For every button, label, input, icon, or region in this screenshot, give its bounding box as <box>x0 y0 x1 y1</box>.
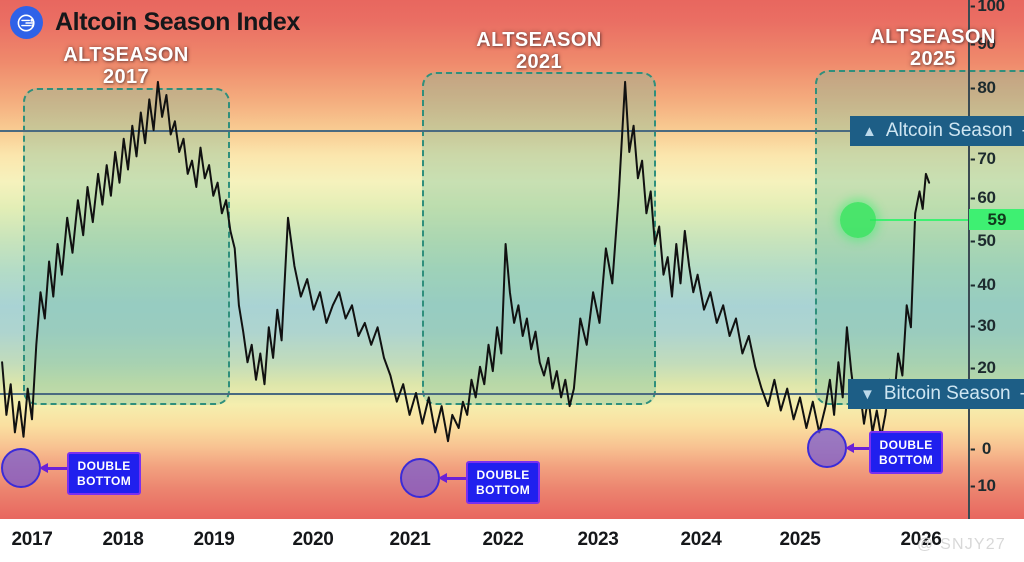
altseason-label-text: ALTSEASON <box>456 29 622 51</box>
double-bottom-callout-2[interactable]: DOUBLE BOTTOM <box>466 461 540 504</box>
callout-line-2: BOTTOM <box>77 474 131 489</box>
altseason-label-2025: ALTSEASON 2025 <box>850 26 1016 71</box>
page-title: Altcoin Season Index <box>55 8 300 37</box>
badge-trailing-dash: - <box>1020 383 1024 405</box>
y-tick-50: -50 <box>970 231 996 251</box>
x-tick-2022: 2022 <box>482 529 523 551</box>
double-bottom-arrow-1 <box>47 467 68 470</box>
y-tick-minus-10: -10 <box>970 476 996 496</box>
triangle-up-icon: ▲ <box>862 124 877 139</box>
double-bottom-arrow-2 <box>446 477 467 480</box>
x-tick-2018: 2018 <box>102 529 143 551</box>
callout-line-2: BOTTOM <box>476 483 530 498</box>
bitcoin-season-label: Bitcoin Season <box>884 383 1011 405</box>
altseason-label-year: 2017 <box>43 66 209 88</box>
double-bottom-circle-3 <box>807 428 847 468</box>
current-value-badge: 59 <box>969 209 1024 230</box>
y-tick-70: -70 <box>970 149 996 169</box>
altseason-label-year: 2025 <box>850 48 1016 70</box>
altcoin-index-logo-icon <box>10 6 43 39</box>
double-bottom-circle-1 <box>1 448 41 488</box>
x-tick-2019: 2019 <box>193 529 234 551</box>
altcoin-season-label: Altcoin Season <box>886 120 1013 142</box>
y-tick-40: -40 <box>970 275 996 295</box>
bitcoin-season-badge[interactable]: ▼ Bitcoin Season - <box>848 379 1024 409</box>
double-bottom-callout-3[interactable]: DOUBLE BOTTOM <box>869 431 943 474</box>
y-tick-20: -20 <box>970 358 996 378</box>
altseason-label-2017: ALTSEASON 2017 <box>43 44 209 89</box>
plot-area: -100 -90 -80 -70 -60 -50 -40 -30 -20 -10… <box>0 0 1024 519</box>
callout-line-1: DOUBLE <box>476 468 530 483</box>
callout-line-1: DOUBLE <box>77 459 131 474</box>
current-value-marker <box>840 202 876 238</box>
y-tick-80: -80 <box>970 78 996 98</box>
callout-line-1: DOUBLE <box>879 438 933 453</box>
x-tick-2025: 2025 <box>779 529 820 551</box>
y-tick-30: -30 <box>970 316 996 336</box>
double-bottom-callout-1[interactable]: DOUBLE BOTTOM <box>67 452 141 495</box>
watermark: @ SNJY27 <box>917 536 1006 554</box>
x-tick-2023: 2023 <box>577 529 618 551</box>
y-tick-60: -60 <box>970 188 996 208</box>
altseason-label-text: ALTSEASON <box>850 26 1016 48</box>
altseason-label-year: 2021 <box>456 51 622 73</box>
x-tick-2021: 2021 <box>389 529 430 551</box>
altcoin-season-badge[interactable]: ▲ Altcoin Season - <box>850 116 1024 146</box>
x-axis: 2017 2018 2019 2020 2021 2022 2023 2024 … <box>0 519 1024 562</box>
current-value-connector-line <box>870 219 970 221</box>
x-tick-2020: 2020 <box>292 529 333 551</box>
x-tick-2024: 2024 <box>680 529 721 551</box>
callout-line-2: BOTTOM <box>879 453 933 468</box>
x-tick-2017: 2017 <box>11 529 52 551</box>
altcoin-season-index-chart: -100 -90 -80 -70 -60 -50 -40 -30 -20 -10… <box>0 0 1024 562</box>
altseason-label-text: ALTSEASON <box>43 44 209 66</box>
double-bottom-circle-2 <box>400 458 440 498</box>
triangle-down-icon: ▼ <box>860 387 875 402</box>
y-tick-0: - 0 <box>970 439 991 459</box>
altseason-label-2021: ALTSEASON 2021 <box>456 29 622 74</box>
y-tick-100: -100 <box>970 0 1005 16</box>
header: Altcoin Season Index <box>0 0 300 39</box>
